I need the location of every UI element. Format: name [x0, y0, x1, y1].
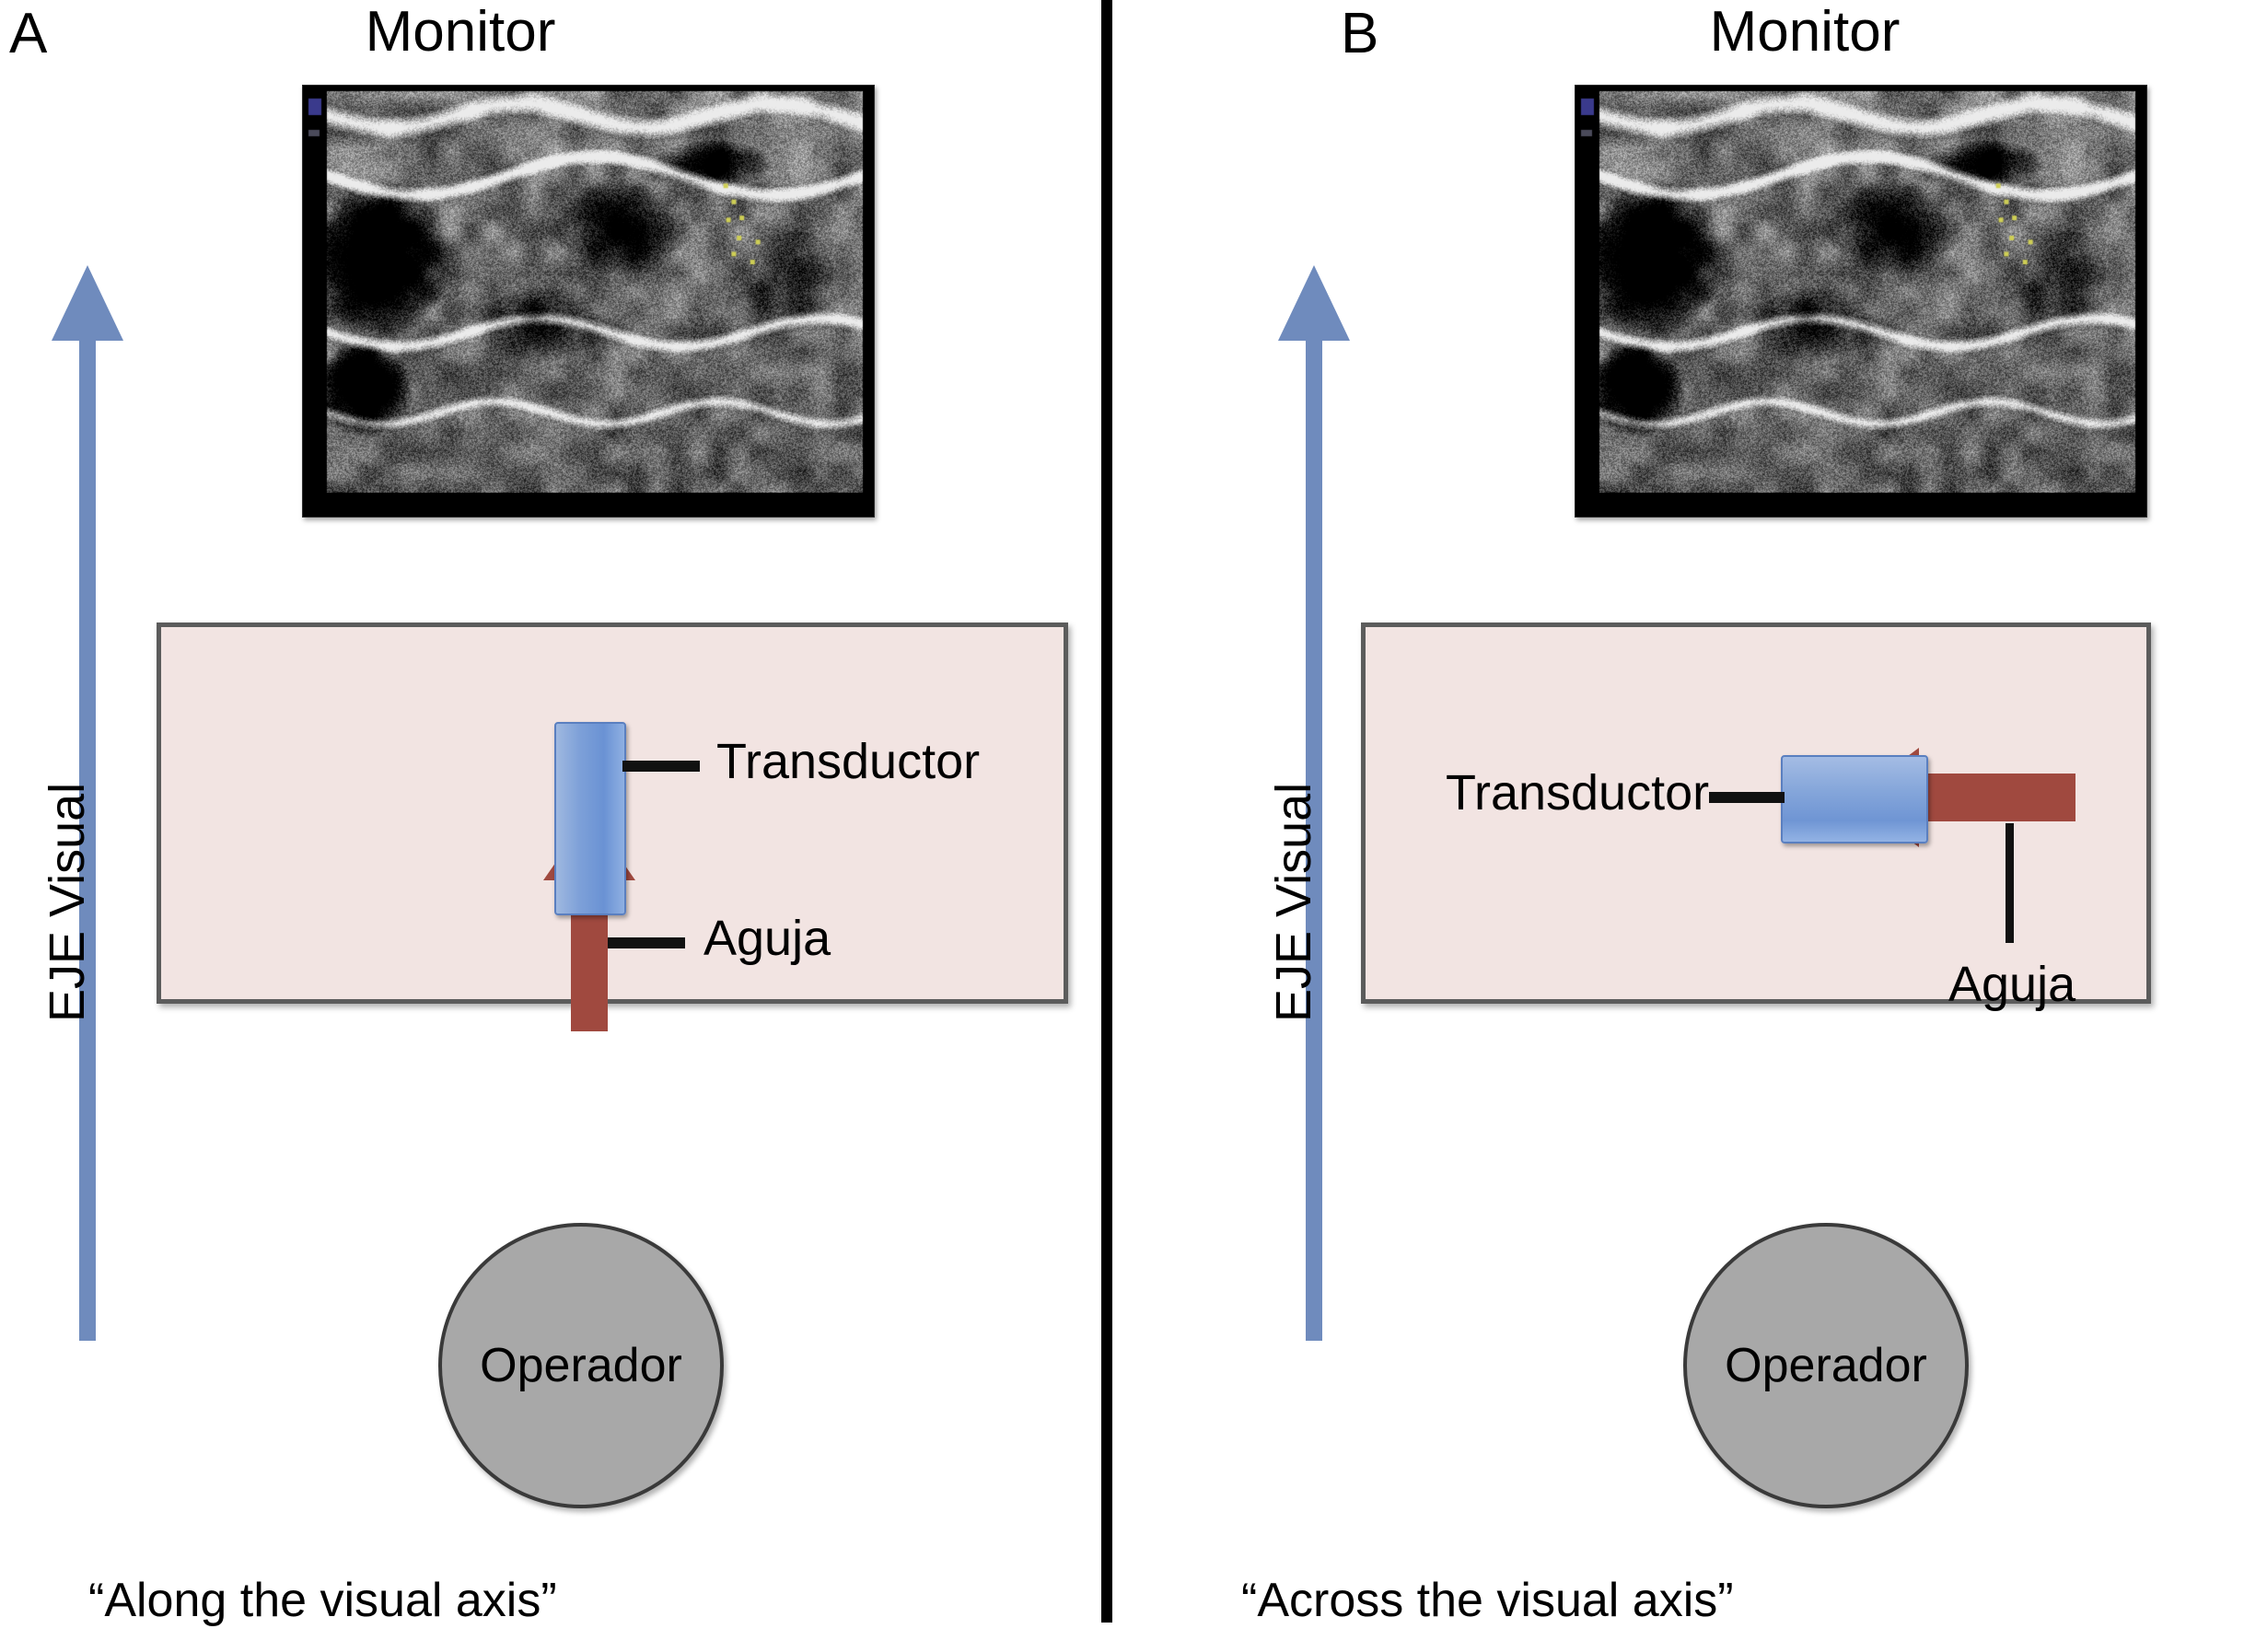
caption-b: “Across the visual axis” — [1241, 1576, 1734, 1624]
needle-label-a: Aguja — [703, 913, 831, 963]
monitor-title-b: Monitor — [1482, 4, 2127, 61]
ultrasound-monitor-b — [1575, 85, 2147, 518]
transducer-label-a: Transductor — [716, 737, 980, 786]
operator-label-b: Operador — [1725, 1342, 1927, 1390]
panel-divider — [1101, 0, 1112, 1623]
transducer-a[interactable] — [554, 722, 626, 915]
transducer-leader-line-b — [1709, 792, 1785, 803]
operator-circle-a: Operador — [438, 1223, 724, 1508]
ultrasound-image-b — [1575, 86, 2146, 517]
needle-label-b: Aguja — [1948, 960, 2075, 1009]
axis-label-a: EJE Visual — [42, 783, 92, 1022]
operator-label-a: Operador — [480, 1342, 682, 1390]
transducer-b[interactable] — [1781, 755, 1928, 843]
monitor-title-a: Monitor — [184, 4, 737, 61]
panel-letter-b: B — [1341, 6, 1378, 63]
ultrasound-image-a — [303, 86, 874, 517]
transducer-leader-line-a — [622, 761, 700, 772]
figure-root: A Monitor EJE Visual Transductor Aguja O… — [0, 0, 2244, 1652]
needle-leader-line-a — [608, 937, 685, 948]
caption-a: “Along the visual axis” — [88, 1576, 557, 1624]
ultrasound-monitor-a — [302, 85, 875, 518]
operator-circle-b: Operador — [1683, 1223, 1969, 1508]
transducer-label-b: Transductor — [1446, 768, 1709, 818]
panel-letter-a: A — [9, 6, 47, 63]
axis-label-b: EJE Visual — [1269, 783, 1319, 1022]
